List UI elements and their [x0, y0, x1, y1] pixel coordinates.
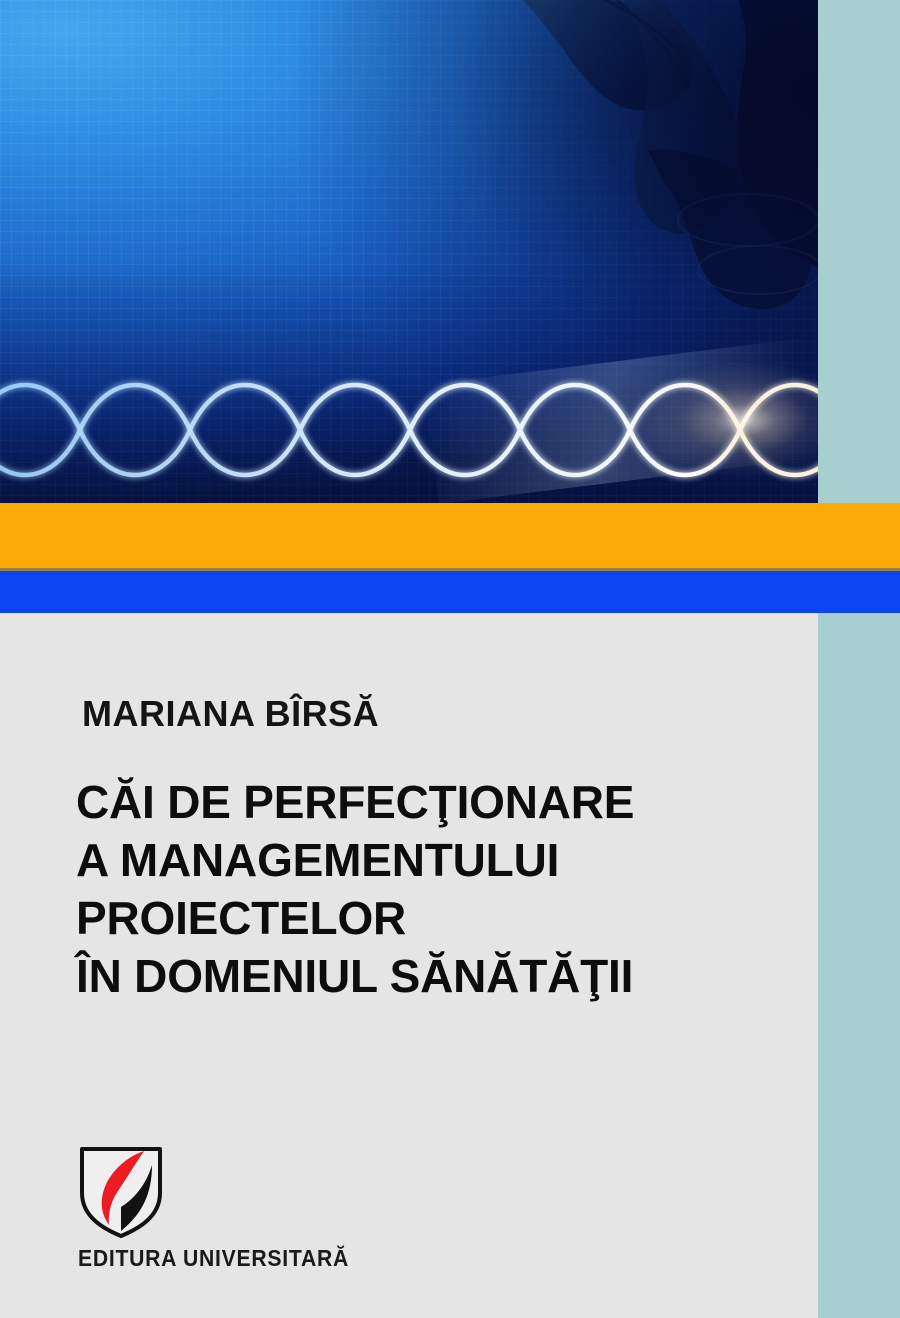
teal-side-strip — [818, 0, 900, 1318]
cover-hero-artwork — [0, 0, 818, 503]
title-line-4: ÎN DOMENIUL SĂNĂTĂŢII — [76, 947, 806, 1005]
book-cover: MARIANA BÎRSĂ CĂI DE PERFECŢIONARE A MAN… — [0, 0, 900, 1318]
title-line-1: CĂI DE PERFECŢIONARE — [76, 773, 806, 831]
publisher-block: EDITURA UNIVERSITARĂ — [78, 1143, 408, 1272]
book-title: CĂI DE PERFECŢIONARE A MANAGEMENTULUI PR… — [76, 773, 806, 1005]
title-line-3: PROIECTELOR — [76, 889, 806, 947]
title-line-2: A MANAGEMENTULUI — [76, 831, 806, 889]
author-name: MARIANA BÎRSĂ — [82, 693, 379, 735]
cover-text-panel: MARIANA BÎRSĂ CĂI DE PERFECŢIONARE A MAN… — [0, 613, 818, 1318]
grid-texture-overlay — [0, 0, 818, 503]
orange-accent-band — [0, 503, 900, 568]
light-streak — [424, 336, 818, 503]
dna-helix-icon — [0, 368, 818, 493]
lens-flare-icon — [580, 330, 818, 503]
dark-vignette-overlay — [0, 0, 818, 503]
abstract-organic-shape — [498, 0, 818, 330]
blue-accent-band — [0, 571, 900, 613]
publisher-shield-logo-icon — [78, 1143, 164, 1239]
publisher-name: EDITURA UNIVERSITARĂ — [78, 1245, 382, 1272]
